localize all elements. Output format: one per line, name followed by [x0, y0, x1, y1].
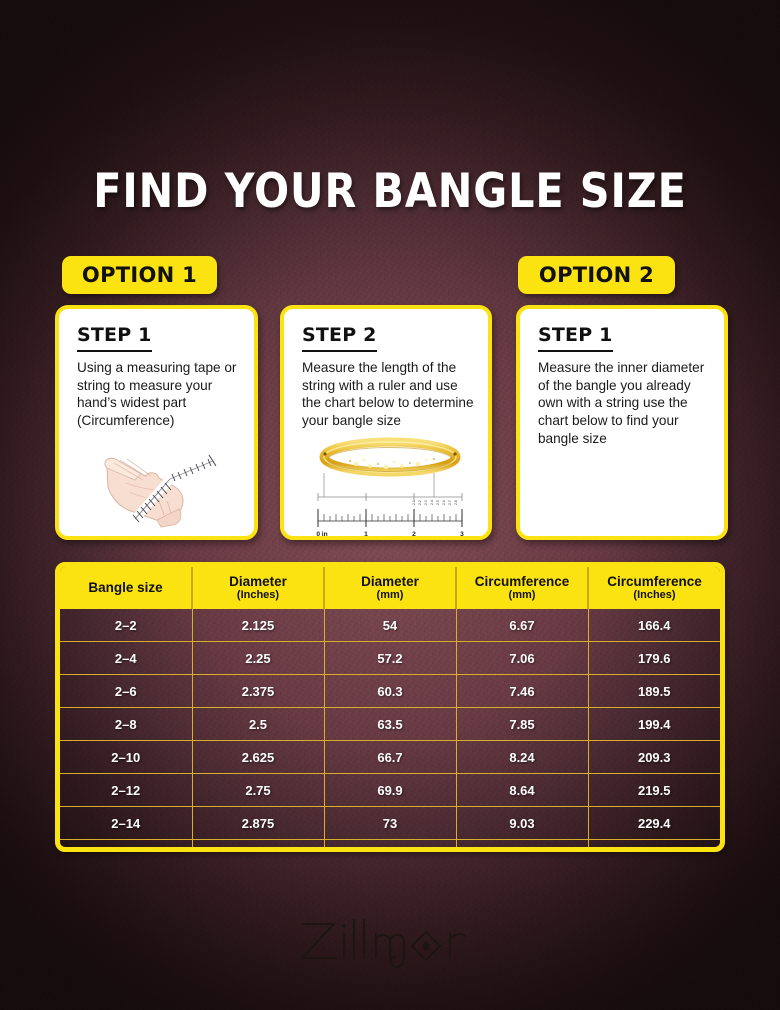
size-table: Bangle sizeDiameter(Inches)Diameter(mm)C… [60, 567, 720, 852]
table-cell: 73 [324, 807, 456, 840]
table-row: 2–82.563.57.85199.4 [60, 708, 720, 741]
table-row: 2–22.125546.67166.4 [60, 609, 720, 642]
step-body: Using a measuring tape or string to meas… [77, 359, 242, 430]
table-cell: 7.06 [456, 642, 588, 675]
table-cell: 2.375 [192, 675, 324, 708]
svg-text:2.8: 2.8 [454, 500, 458, 505]
bangle-size-chart: Bangle sizeDiameter(Inches)Diameter(mm)C… [55, 562, 725, 852]
infographic-page: FIND YOUR BANGLE SIZE OPTION 1 OPTION 2 … [0, 0, 780, 1010]
table-cell: 7.85 [456, 708, 588, 741]
svg-text:2.5: 2.5 [436, 500, 440, 505]
column-header-label: Circumference [475, 574, 570, 589]
table-cell: 189.5 [588, 675, 720, 708]
step-heading: STEP 1 [77, 324, 152, 350]
step-card-option1-step2: STEP 2 Measure the length of the string … [280, 305, 492, 540]
step-heading: STEP 1 [538, 324, 613, 350]
table-cell: 3 [60, 840, 192, 853]
step-card-option1-step1: STEP 1 Using a measuring tape or string … [55, 305, 258, 540]
table-cell: 69.9 [324, 774, 456, 807]
column-header-3: Circumference(mm) [456, 567, 588, 609]
table-cell: 2–14 [60, 807, 192, 840]
ruler-label-3: 3 [460, 531, 464, 537]
table-cell: 2–10 [60, 741, 192, 774]
column-header-unit: (mm) [459, 589, 585, 601]
table-body: 2–22.125546.67166.42–42.2557.27.06179.62… [60, 609, 720, 852]
svg-text:2.3: 2.3 [424, 500, 428, 505]
page-title: FIND YOUR BANGLE SIZE [47, 168, 733, 215]
table-row: 2–62.37560.37.46189.5 [60, 675, 720, 708]
gold-bangle-over-ruler-icon: 2.1 2.2 2.3 2.4 2.5 2.6 2.7 2.8 [294, 435, 486, 537]
table-cell: 60.3 [324, 675, 456, 708]
column-header-label: Circumference [607, 574, 702, 589]
svg-text:2.6: 2.6 [442, 500, 446, 505]
svg-text:2.2: 2.2 [418, 500, 422, 505]
brand-logo [0, 908, 780, 975]
svg-text:2.7: 2.7 [448, 500, 452, 505]
table-row: 2–142.875739.03229.4 [60, 807, 720, 840]
option-2-badge: OPTION 2 [518, 256, 675, 294]
table-cell: 3 [192, 840, 324, 853]
table-cell: 2.5 [192, 708, 324, 741]
column-header-4: Circumference(Inches) [588, 567, 720, 609]
option-2-label: OPTION 2 [539, 263, 654, 287]
zillmor-wordmark-icon [290, 908, 490, 970]
table-cell: 9.42 [456, 840, 588, 853]
column-header-0: Bangle size [60, 567, 192, 609]
option-1-label: OPTION 1 [82, 263, 197, 287]
column-header-label: Bangle size [88, 580, 162, 595]
table-cell: 2–12 [60, 774, 192, 807]
table-cell: 2–4 [60, 642, 192, 675]
table-row: 2–102.62566.78.24209.3 [60, 741, 720, 774]
table-cell: 229.4 [588, 807, 720, 840]
column-header-unit: (Inches) [591, 589, 718, 601]
table-cell: 63.5 [324, 708, 456, 741]
hand-with-measuring-tape-icon [71, 435, 251, 535]
table-cell: 219.5 [588, 774, 720, 807]
table-cell: 259.3 [588, 840, 720, 853]
table-cell: 2–6 [60, 675, 192, 708]
step-heading: STEP 2 [302, 324, 377, 350]
table-cell: 8.64 [456, 774, 588, 807]
table-cell: 2–2 [60, 609, 192, 642]
table-cell: 9.03 [456, 807, 588, 840]
option-1-badge: OPTION 1 [62, 256, 217, 294]
table-row: 2–42.2557.27.06179.6 [60, 642, 720, 675]
svg-text:2.4: 2.4 [430, 500, 434, 505]
table-cell: 2–8 [60, 708, 192, 741]
table-cell: 57.2 [324, 642, 456, 675]
column-header-unit: (Inches) [195, 589, 321, 601]
table-cell: 2.125 [192, 609, 324, 642]
table-cell: 209.3 [588, 741, 720, 774]
table-header-row: Bangle sizeDiameter(Inches)Diameter(mm)C… [60, 567, 720, 609]
table-row: 3376.29.42259.3 [60, 840, 720, 853]
step-body: Measure the length of the string with a … [302, 359, 476, 430]
table-cell: 8.24 [456, 741, 588, 774]
table-cell: 76.2 [324, 840, 456, 853]
table-cell: 2.875 [192, 807, 324, 840]
svg-text:2.1: 2.1 [412, 500, 416, 505]
step-card-option2-step1: STEP 1 Measure the inner diameter of the… [516, 305, 728, 540]
table-cell: 7.46 [456, 675, 588, 708]
table-cell: 199.4 [588, 708, 720, 741]
table-cell: 66.7 [324, 741, 456, 774]
table-cell: 54 [324, 609, 456, 642]
column-header-2: Diameter(mm) [324, 567, 456, 609]
column-header-1: Diameter(Inches) [192, 567, 324, 609]
table-cell: 166.4 [588, 609, 720, 642]
column-header-unit: (mm) [327, 589, 453, 601]
table-row: 2–122.7569.98.64219.5 [60, 774, 720, 807]
column-header-label: Diameter [361, 574, 419, 589]
ruler-label-2: 2 [412, 531, 416, 537]
step-body: Measure the inner diameter of the bangle… [538, 359, 712, 447]
table-cell: 179.6 [588, 642, 720, 675]
table-cell: 2.75 [192, 774, 324, 807]
table-cell: 6.67 [456, 609, 588, 642]
table-cell: 2.25 [192, 642, 324, 675]
table-cell: 2.625 [192, 741, 324, 774]
ruler-label-0: 0 in [316, 531, 327, 537]
ruler-label-1: 1 [364, 531, 368, 537]
column-header-label: Diameter [229, 574, 287, 589]
